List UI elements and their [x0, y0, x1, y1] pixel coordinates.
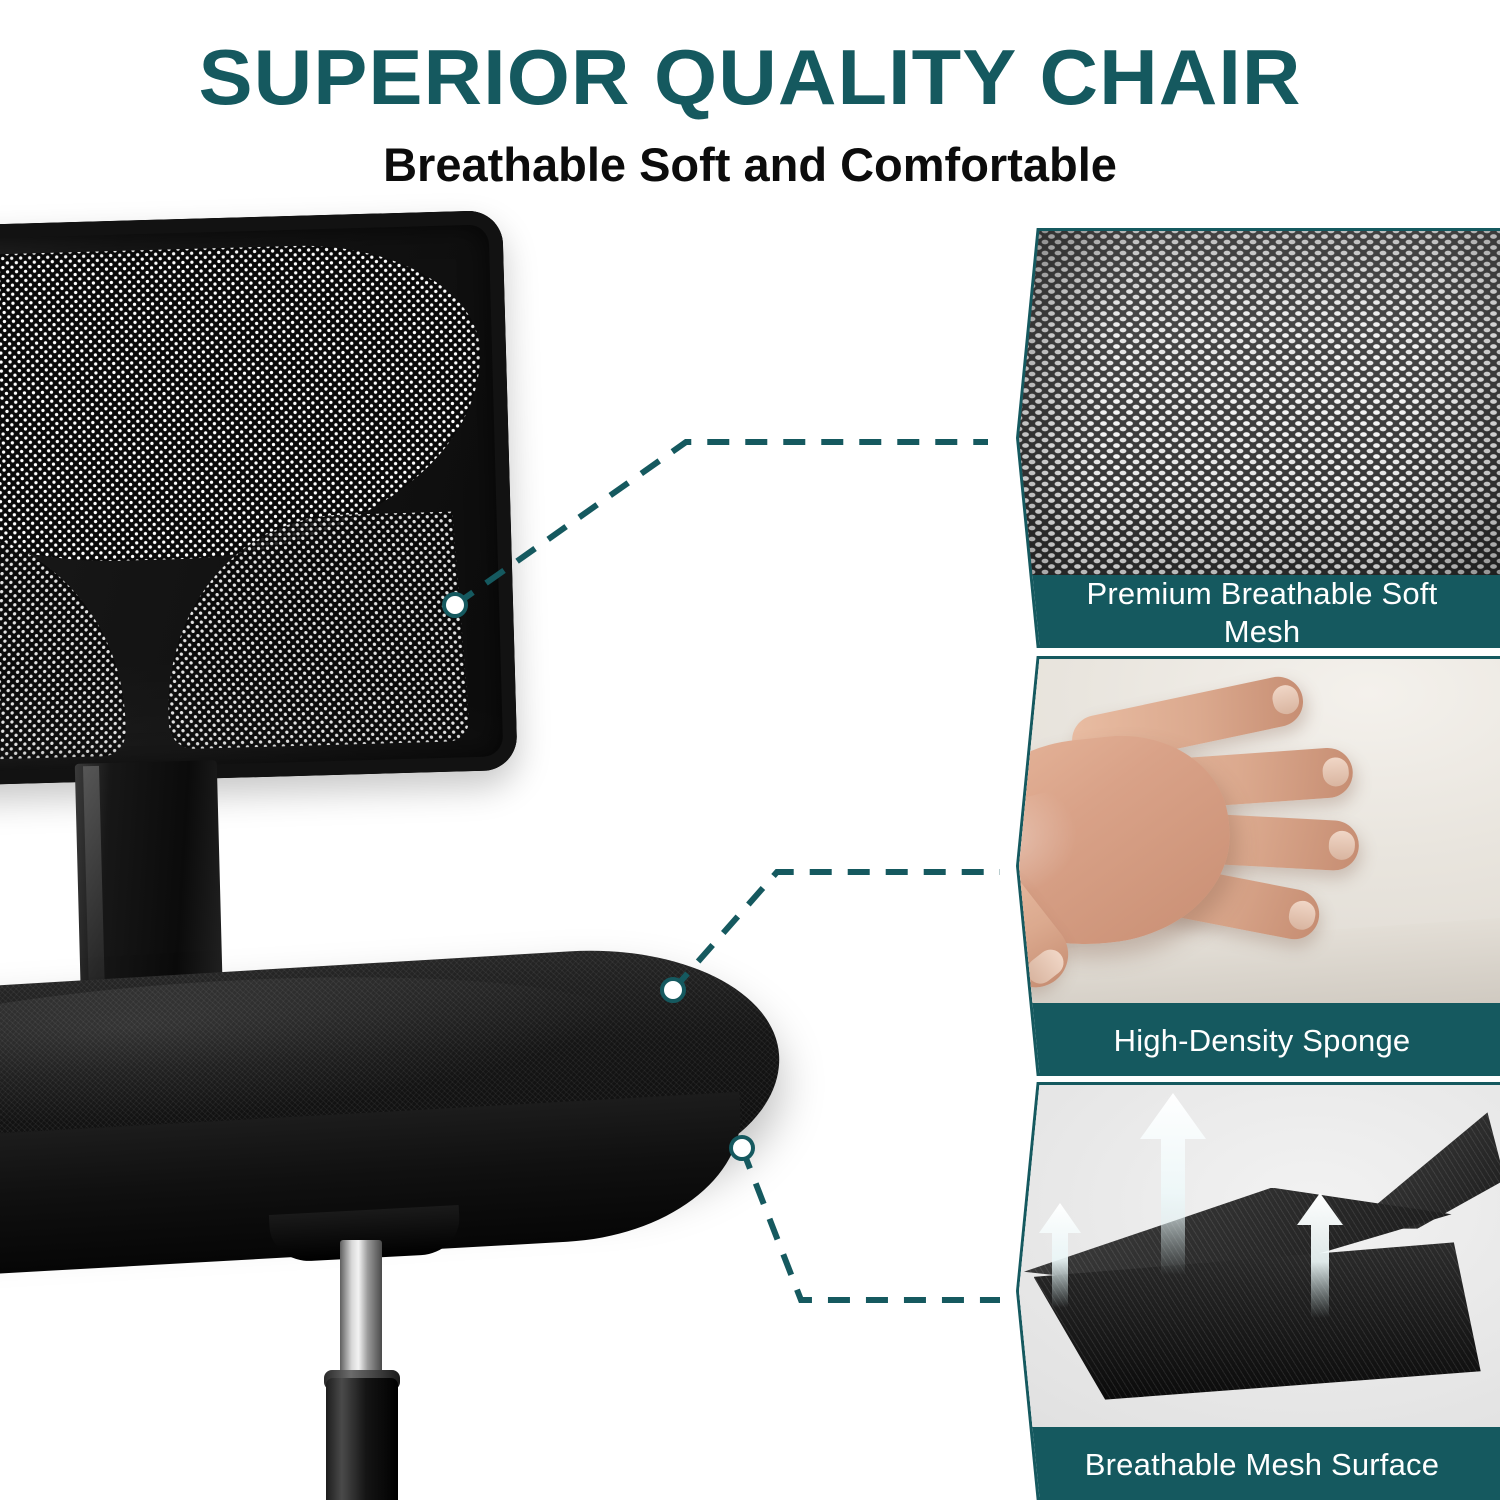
header: SUPERIOR QUALITY CHAIR Breathable Soft a…: [0, 0, 1500, 210]
panel-caption-surface: Breathable Mesh Surface: [1019, 1427, 1500, 1500]
palm-highlight: [1019, 787, 1090, 905]
product-photo-chair: [0, 210, 800, 1500]
callout-panel-surface: Breathable Mesh Surface: [1016, 1082, 1500, 1500]
fingernail: [1286, 898, 1317, 931]
panel-image-sponge: [1019, 659, 1500, 1003]
airflow-arrow-center-icon: [1140, 1093, 1206, 1275]
page-subtitle: Breathable Soft and Comfortable: [0, 137, 1500, 193]
panel-body-surface: Breathable Mesh Surface: [1019, 1085, 1500, 1497]
airflow-arrow-left-icon: [1039, 1203, 1081, 1308]
backrest-edge-trim: [0, 210, 518, 790]
panel-body-mesh: Premium Breathable Soft Mesh: [1019, 231, 1500, 645]
infographic-canvas: SUPERIOR QUALITY CHAIR Breathable Soft a…: [0, 0, 1500, 1500]
hotspot-dot-sponge[interactable]: [660, 977, 686, 1003]
chair-backrest: [0, 210, 518, 790]
fingernail: [1270, 682, 1301, 715]
hand-illustration: [1019, 673, 1476, 1003]
page-title: SUPERIOR QUALITY CHAIR: [0, 34, 1500, 120]
callout-panel-mesh: Premium Breathable Soft Mesh: [1016, 228, 1500, 648]
panel-body-sponge: High-Density Sponge: [1019, 659, 1500, 1073]
hotspot-dot-surface[interactable]: [729, 1135, 755, 1161]
airflow-arrow-right-icon: [1297, 1193, 1343, 1318]
fingernail: [1327, 830, 1354, 860]
callout-panel-sponge: High-Density Sponge: [1016, 656, 1500, 1076]
hotspot-dot-mesh[interactable]: [442, 592, 468, 618]
panel-caption-mesh: Premium Breathable Soft Mesh: [1019, 575, 1500, 651]
mesh-macro-shading: [1019, 231, 1500, 575]
panel-caption-sponge: High-Density Sponge: [1019, 1003, 1500, 1079]
panel-image-mesh: [1019, 231, 1500, 575]
panel-image-surface: [1019, 1085, 1500, 1427]
fingernail: [1322, 757, 1350, 787]
gas-cylinder-housing: [326, 1378, 398, 1500]
